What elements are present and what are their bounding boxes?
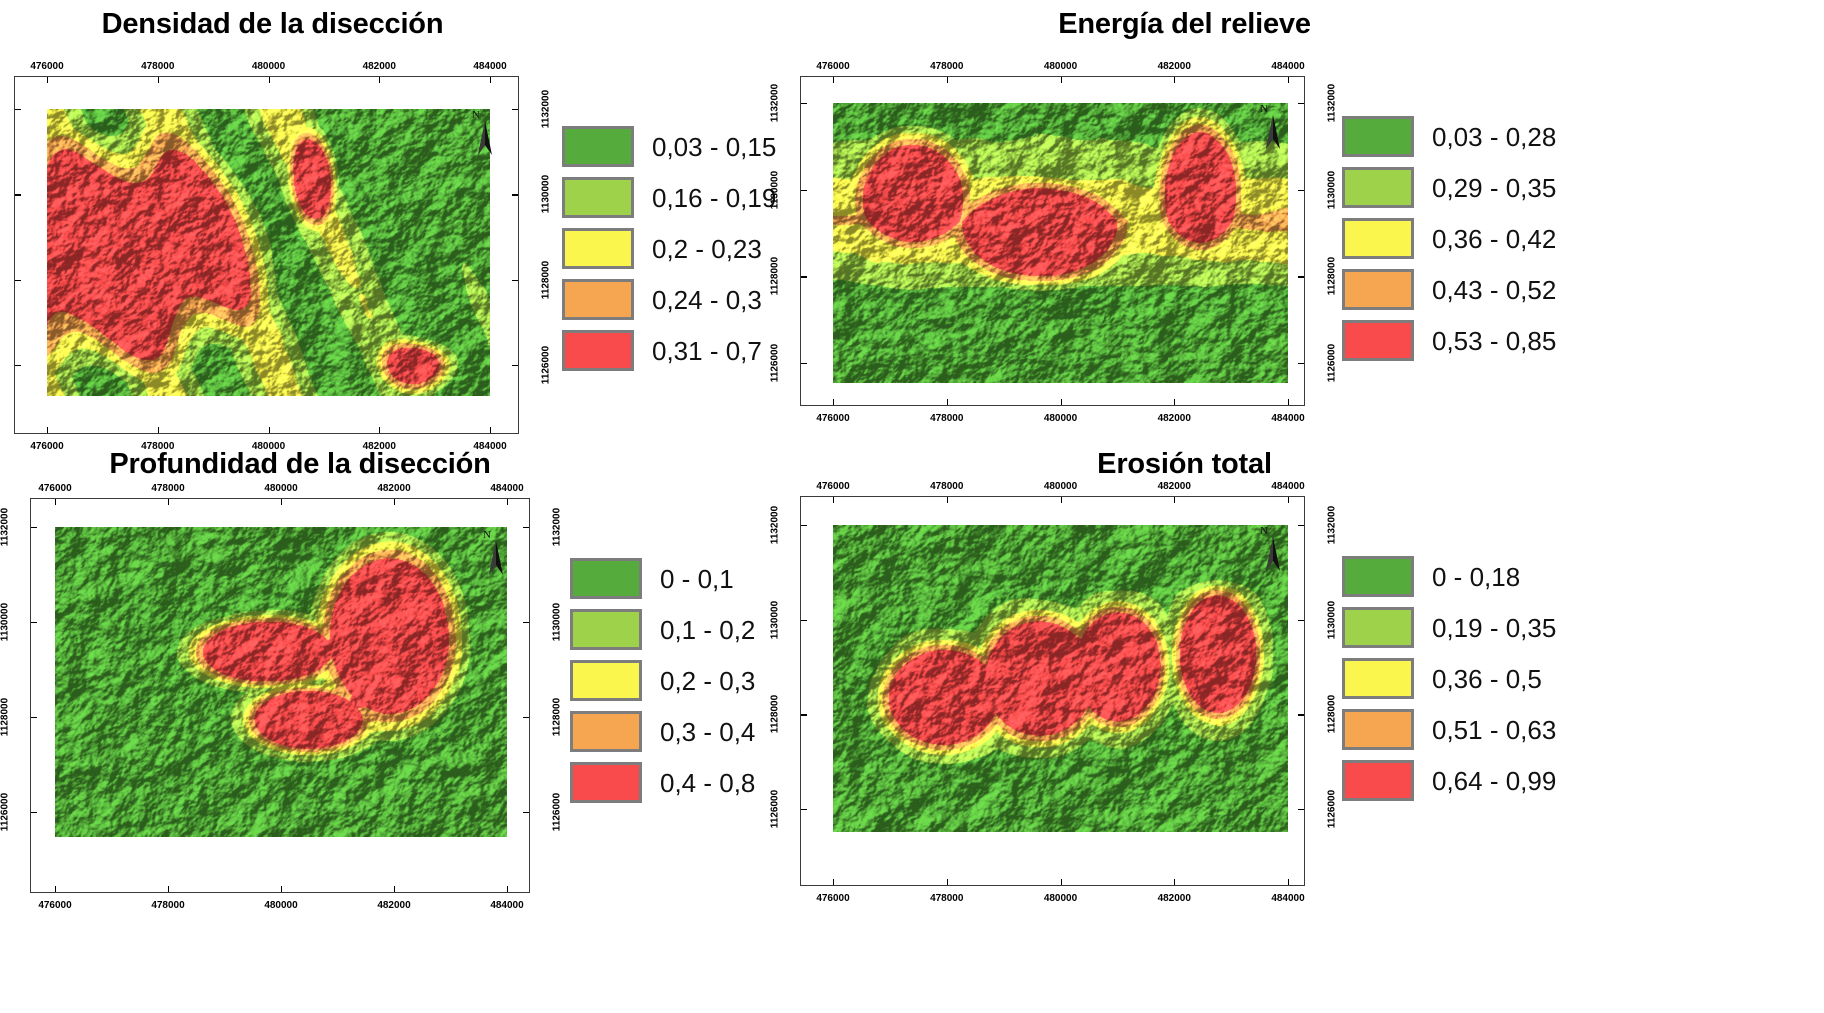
legend-row[interactable]: 0,3 - 0,4 <box>570 711 755 752</box>
legend-row[interactable]: 0,03 - 0,28 <box>1342 116 1556 157</box>
axis-tick-x <box>1288 399 1289 405</box>
axis-tick-y <box>31 622 37 623</box>
axis-tick-y <box>15 109 21 110</box>
axis-tick-x <box>507 499 508 505</box>
legend-swatch <box>1342 556 1414 597</box>
legend-label: 0,51 - 0,63 <box>1432 717 1556 743</box>
axis-tick-x <box>1174 497 1175 503</box>
axis-label-y: 1128000 <box>552 698 563 736</box>
axis-tick-x <box>1288 879 1289 885</box>
axis-label-y: 1126000 <box>770 790 781 828</box>
panel-energia: Energía del relieve N 476000476000478000… <box>772 8 1824 448</box>
map-raster-densidad[interactable] <box>47 109 490 396</box>
legend-row[interactable]: 0,43 - 0,52 <box>1342 269 1556 310</box>
axis-tick-y <box>801 714 807 715</box>
axis-tick-y <box>1298 103 1304 104</box>
legend-row[interactable]: 0,1 - 0,2 <box>570 609 755 650</box>
panel-profundidad: Profundidad de la disección N 4760004760… <box>0 448 820 1008</box>
legend-label: 0 - 0,1 <box>660 566 734 592</box>
map-raster-energia[interactable] <box>833 103 1288 383</box>
axis-label-y: 1130000 <box>1327 170 1338 208</box>
panel-title-profundidad: Profundidad de la disección <box>0 448 600 481</box>
axis-tick-x <box>269 427 270 433</box>
axis-label-y: 1130000 <box>770 600 781 638</box>
axis-label-x: 476000 <box>816 481 849 492</box>
axis-label-x: 480000 <box>1044 893 1077 904</box>
legend-label: 0,36 - 0,5 <box>1432 666 1542 692</box>
axis-label-x: 484000 <box>1271 61 1304 72</box>
axis-tick-x <box>833 879 834 885</box>
axis-label-x: 480000 <box>264 900 297 911</box>
figure-root: Densidad de la disección N 4760004760004… <box>0 0 1824 1013</box>
terrain-canvas-profundidad <box>55 527 507 837</box>
axis-label-y: 1128000 <box>0 698 11 736</box>
legend-label: 0,19 - 0,35 <box>1432 615 1556 641</box>
legend-label: 0,4 - 0,8 <box>660 770 755 796</box>
axis-tick-x <box>833 77 834 83</box>
axis-tick-y <box>15 194 21 195</box>
legend-swatch <box>1342 320 1414 361</box>
axis-label-y: 1132000 <box>770 84 781 122</box>
axis-tick-x <box>168 499 169 505</box>
axis-label-y: 1130000 <box>552 603 563 641</box>
axis-label-y: 1126000 <box>0 793 11 831</box>
axis-label-y: 1126000 <box>1327 344 1338 382</box>
panel-title-densidad: Densidad de la disección <box>0 8 545 41</box>
map-raster-erosion[interactable] <box>833 525 1288 832</box>
legend-row[interactable]: 0,16 - 0,19 <box>562 177 776 218</box>
terrain-canvas-densidad <box>47 109 490 396</box>
north-arrow-densidad: N <box>472 111 498 157</box>
axis-label-y: 1130000 <box>770 170 781 208</box>
legend-row[interactable]: 0,2 - 0,23 <box>562 228 776 269</box>
legend-row[interactable]: 0,53 - 0,85 <box>1342 320 1556 361</box>
legend-swatch <box>570 609 642 650</box>
legend-label: 0,16 - 0,19 <box>652 185 776 211</box>
axis-tick-x <box>55 499 56 505</box>
axis-tick-y <box>512 109 518 110</box>
legend-label: 0,36 - 0,42 <box>1432 226 1556 252</box>
legend-row[interactable]: 0,4 - 0,8 <box>570 762 755 803</box>
legend-label: 0 - 0,18 <box>1432 564 1520 590</box>
axis-tick-x <box>55 886 56 892</box>
axis-label-x: 478000 <box>930 481 963 492</box>
axis-tick-x <box>833 399 834 405</box>
legend-swatch <box>1342 709 1414 750</box>
axis-label-x: 480000 <box>1044 413 1077 424</box>
north-arrow-letter: N <box>483 529 491 541</box>
axis-label-y: 1132000 <box>0 508 11 546</box>
axis-label-y: 1128000 <box>1327 257 1338 295</box>
legend-label: 0,29 - 0,35 <box>1432 175 1556 201</box>
panel-title-energia: Energía del relieve <box>912 8 1457 41</box>
axis-tick-x <box>1174 879 1175 885</box>
axis-tick-x <box>1061 497 1062 503</box>
axis-tick-y <box>1298 276 1304 277</box>
north-arrow-profundidad: N <box>483 531 509 577</box>
axis-label-y: 1130000 <box>1327 600 1338 638</box>
north-arrow-letter: N <box>1260 103 1268 115</box>
axis-label-x: 484000 <box>490 483 523 494</box>
axis-label-x: 478000 <box>930 893 963 904</box>
legend-row[interactable]: 0,36 - 0,5 <box>1342 658 1556 699</box>
axis-tick-x <box>47 77 48 83</box>
axis-label-x: 478000 <box>930 413 963 424</box>
axis-label-y: 1130000 <box>541 175 552 213</box>
legend-row[interactable]: 0,24 - 0,3 <box>562 279 776 320</box>
axis-tick-y <box>1298 525 1304 526</box>
axis-label-y: 1130000 <box>0 603 11 641</box>
axis-tick-x <box>1061 399 1062 405</box>
axis-label-x: 484000 <box>1271 413 1304 424</box>
legend-swatch <box>570 711 642 752</box>
axis-tick-x <box>281 499 282 505</box>
legend-energia: 0,03 - 0,280,29 - 0,350,36 - 0,420,43 - … <box>1342 116 1556 371</box>
axis-label-x: 476000 <box>816 61 849 72</box>
axis-tick-x <box>269 77 270 83</box>
axis-tick-y <box>1298 620 1304 621</box>
legend-swatch <box>1342 269 1414 310</box>
map-frame-densidad: N 47600047600047800047800048000048000048… <box>14 76 519 434</box>
legend-row[interactable]: 0,36 - 0,42 <box>1342 218 1556 259</box>
axis-tick-x <box>158 427 159 433</box>
panel-title-erosion: Erosión total <box>912 448 1457 481</box>
axis-tick-x <box>490 427 491 433</box>
axis-tick-x <box>947 399 948 405</box>
legend-swatch <box>570 762 642 803</box>
legend-densidad: 0,03 - 0,150,16 - 0,190,2 - 0,230,24 - 0… <box>562 126 776 381</box>
legend-label: 0,31 - 0,7 <box>652 338 762 364</box>
axis-label-x: 480000 <box>1044 481 1077 492</box>
axis-tick-x <box>394 886 395 892</box>
legend-profundidad: 0 - 0,10,1 - 0,20,2 - 0,30,3 - 0,40,4 - … <box>570 558 755 813</box>
terrain-canvas-erosion <box>833 525 1288 832</box>
axis-tick-y <box>1298 809 1304 810</box>
axis-label-x: 482000 <box>1158 481 1191 492</box>
legend-swatch <box>1342 658 1414 699</box>
axis-tick-x <box>47 427 48 433</box>
legend-swatch <box>1342 167 1414 208</box>
axis-label-x: 478000 <box>141 61 174 72</box>
axis-tick-y <box>15 365 21 366</box>
legend-swatch <box>1342 116 1414 157</box>
legend-label: 0,64 - 0,99 <box>1432 768 1556 794</box>
axis-tick-x <box>947 497 948 503</box>
axis-label-x: 480000 <box>264 483 297 494</box>
axis-tick-y <box>1298 190 1304 191</box>
legend-row[interactable]: 0,31 - 0,7 <box>562 330 776 371</box>
axis-tick-y <box>523 527 529 528</box>
map-frame-profundidad: N 47600047600047800047800048000048000048… <box>30 498 530 893</box>
axis-tick-x <box>1174 399 1175 405</box>
north-arrow-erosion: N <box>1260 527 1286 573</box>
legend-swatch <box>562 279 634 320</box>
axis-tick-x <box>1061 879 1062 885</box>
legend-label: 0,24 - 0,3 <box>652 287 762 313</box>
axis-tick-y <box>801 363 807 364</box>
panel-densidad: Densidad de la disección N 4760004760004… <box>0 8 820 448</box>
legend-row[interactable]: 0,51 - 0,63 <box>1342 709 1556 750</box>
north-arrow-energia: N <box>1260 105 1286 151</box>
axis-label-x: 482000 <box>1158 893 1191 904</box>
axis-tick-y <box>512 365 518 366</box>
axis-tick-x <box>1174 77 1175 83</box>
axis-tick-x <box>158 77 159 83</box>
axis-label-y: 1128000 <box>1327 695 1338 733</box>
axis-label-x: 482000 <box>363 61 396 72</box>
legend-label: 0,2 - 0,23 <box>652 236 762 262</box>
axis-tick-x <box>947 77 948 83</box>
legend-label: 0,1 - 0,2 <box>660 617 755 643</box>
axis-tick-y <box>512 194 518 195</box>
axis-tick-x <box>281 886 282 892</box>
legend-label: 0,03 - 0,28 <box>1432 124 1556 150</box>
axis-tick-y <box>31 812 37 813</box>
axis-label-x: 484000 <box>473 61 506 72</box>
axis-tick-x <box>507 886 508 892</box>
axis-tick-x <box>1288 77 1289 83</box>
axis-tick-y <box>31 527 37 528</box>
axis-label-x: 484000 <box>1271 893 1304 904</box>
north-arrow-letter: N <box>472 109 480 121</box>
map-frame-erosion: N 47600047600047800047800048000048000048… <box>800 496 1305 886</box>
legend-row[interactable]: 0 - 0,1 <box>570 558 755 599</box>
legend-row[interactable]: 0,29 - 0,35 <box>1342 167 1556 208</box>
legend-row[interactable]: 0,03 - 0,15 <box>562 126 776 167</box>
axis-label-x: 478000 <box>930 61 963 72</box>
legend-swatch <box>562 228 634 269</box>
axis-label-x: 476000 <box>816 413 849 424</box>
map-raster-profundidad[interactable] <box>55 527 507 837</box>
legend-swatch <box>1342 760 1414 801</box>
axis-tick-x <box>490 77 491 83</box>
axis-tick-x <box>947 879 948 885</box>
axis-tick-y <box>523 812 529 813</box>
legend-label: 0,43 - 0,52 <box>1432 277 1556 303</box>
axis-label-x: 484000 <box>490 900 523 911</box>
axis-tick-y <box>1298 714 1304 715</box>
axis-label-x: 476000 <box>816 893 849 904</box>
legend-swatch <box>562 330 634 371</box>
axis-label-y: 1132000 <box>552 508 563 546</box>
axis-tick-y <box>31 717 37 718</box>
axis-tick-x <box>379 427 380 433</box>
axis-label-x: 476000 <box>30 61 63 72</box>
axis-tick-y <box>523 717 529 718</box>
axis-label-y: 1126000 <box>541 346 552 384</box>
axis-tick-x <box>394 499 395 505</box>
axis-tick-y <box>801 276 807 277</box>
axis-label-y: 1126000 <box>1327 790 1338 828</box>
legend-swatch <box>570 660 642 701</box>
axis-label-x: 482000 <box>377 483 410 494</box>
terrain-canvas-energia <box>833 103 1288 383</box>
legend-swatch <box>570 558 642 599</box>
axis-label-x: 482000 <box>1158 413 1191 424</box>
legend-erosion: 0 - 0,180,19 - 0,350,36 - 0,50,51 - 0,63… <box>1342 556 1556 811</box>
axis-label-y: 1128000 <box>770 257 781 295</box>
axis-tick-y <box>801 809 807 810</box>
panel-erosion: Erosión total N 476000476000478000478000… <box>772 448 1824 1008</box>
axis-tick-y <box>801 103 807 104</box>
axis-label-y: 1132000 <box>541 90 552 128</box>
axis-label-y: 1128000 <box>770 695 781 733</box>
legend-label: 0,53 - 0,85 <box>1432 328 1556 354</box>
axis-tick-y <box>15 280 21 281</box>
map-frame-energia: N 47600047600047800047800048000048000048… <box>800 76 1305 406</box>
axis-tick-y <box>512 280 518 281</box>
axis-label-x: 478000 <box>151 900 184 911</box>
axis-label-x: 476000 <box>38 483 71 494</box>
legend-swatch <box>1342 607 1414 648</box>
axis-label-x: 476000 <box>38 900 71 911</box>
north-arrow-letter: N <box>1260 525 1268 537</box>
legend-label: 0,2 - 0,3 <box>660 668 755 694</box>
legend-swatch <box>1342 218 1414 259</box>
legend-row[interactable]: 0,19 - 0,35 <box>1342 607 1556 648</box>
legend-label: 0,03 - 0,15 <box>652 134 776 160</box>
axis-tick-x <box>833 497 834 503</box>
legend-row[interactable]: 0,64 - 0,99 <box>1342 760 1556 801</box>
axis-label-y: 1126000 <box>770 344 781 382</box>
legend-swatch <box>562 126 634 167</box>
axis-tick-x <box>1288 497 1289 503</box>
axis-label-y: 1128000 <box>541 260 552 298</box>
axis-label-y: 1132000 <box>1327 506 1338 544</box>
legend-swatch <box>562 177 634 218</box>
axis-tick-y <box>801 620 807 621</box>
axis-tick-x <box>1061 77 1062 83</box>
axis-label-y: 1132000 <box>770 506 781 544</box>
axis-tick-x <box>168 886 169 892</box>
axis-label-x: 482000 <box>377 900 410 911</box>
legend-row[interactable]: 0,2 - 0,3 <box>570 660 755 701</box>
axis-tick-x <box>379 77 380 83</box>
axis-label-y: 1132000 <box>1327 84 1338 122</box>
axis-tick-y <box>801 525 807 526</box>
axis-label-y: 1126000 <box>552 793 563 831</box>
axis-tick-y <box>801 190 807 191</box>
legend-row[interactable]: 0 - 0,18 <box>1342 556 1556 597</box>
axis-tick-y <box>1298 363 1304 364</box>
axis-label-x: 480000 <box>252 61 285 72</box>
axis-tick-y <box>523 622 529 623</box>
axis-label-x: 484000 <box>1271 481 1304 492</box>
axis-label-x: 480000 <box>1044 61 1077 72</box>
axis-label-x: 482000 <box>1158 61 1191 72</box>
axis-label-x: 478000 <box>151 483 184 494</box>
legend-label: 0,3 - 0,4 <box>660 719 755 745</box>
